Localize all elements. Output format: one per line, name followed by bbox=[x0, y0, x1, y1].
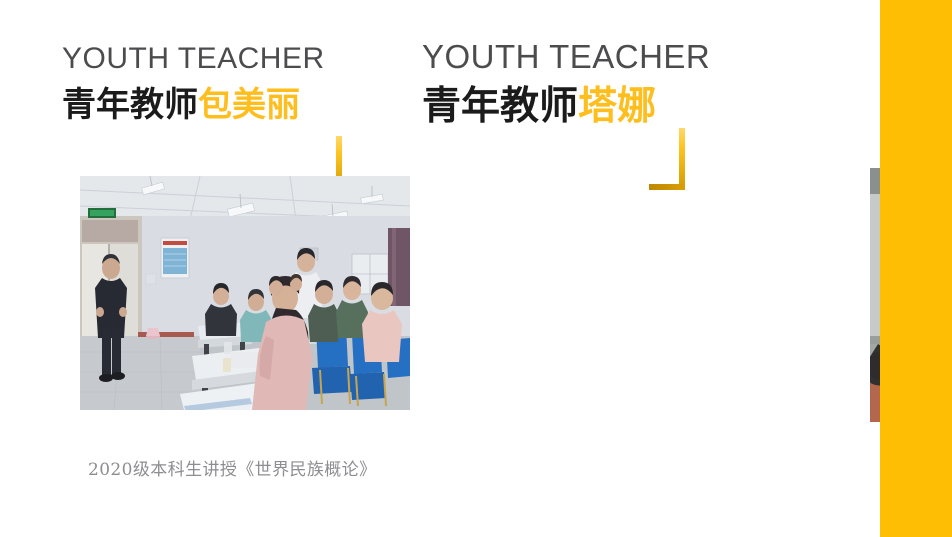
bracket-vertical-stroke bbox=[679, 128, 685, 184]
classroom-photo-left bbox=[80, 176, 410, 410]
teacher-name-left: 包美丽 bbox=[198, 85, 300, 125]
right-accent-bar bbox=[880, 0, 952, 537]
bracket-horizontal-stroke bbox=[649, 184, 685, 190]
teacher-role-right: 青年教师 bbox=[422, 84, 578, 129]
teacher-name-right: 塔娜 bbox=[578, 84, 656, 129]
corner-bracket-icon-right bbox=[649, 128, 693, 190]
title-row-left: 青年教师包美丽 bbox=[62, 88, 325, 122]
heading-block-left: YOUTH TEACHER 青年教师包美丽 bbox=[62, 44, 325, 122]
heading-block-right: YOUTH TEACHER 青年教师塔娜 bbox=[422, 40, 710, 126]
presentation-slide: YOUTH TEACHER 青年教师包美丽 bbox=[0, 0, 952, 537]
teacher-role-left: 青年教师 bbox=[62, 85, 198, 125]
eyebrow-label-left: YOUTH TEACHER bbox=[62, 44, 325, 74]
title-row-right: 青年教师塔娜 bbox=[422, 87, 710, 126]
photo-caption-left: 2020级本科生讲授《世界民族概论》 bbox=[88, 455, 376, 480]
eyebrow-label-right: YOUTH TEACHER bbox=[422, 40, 710, 73]
